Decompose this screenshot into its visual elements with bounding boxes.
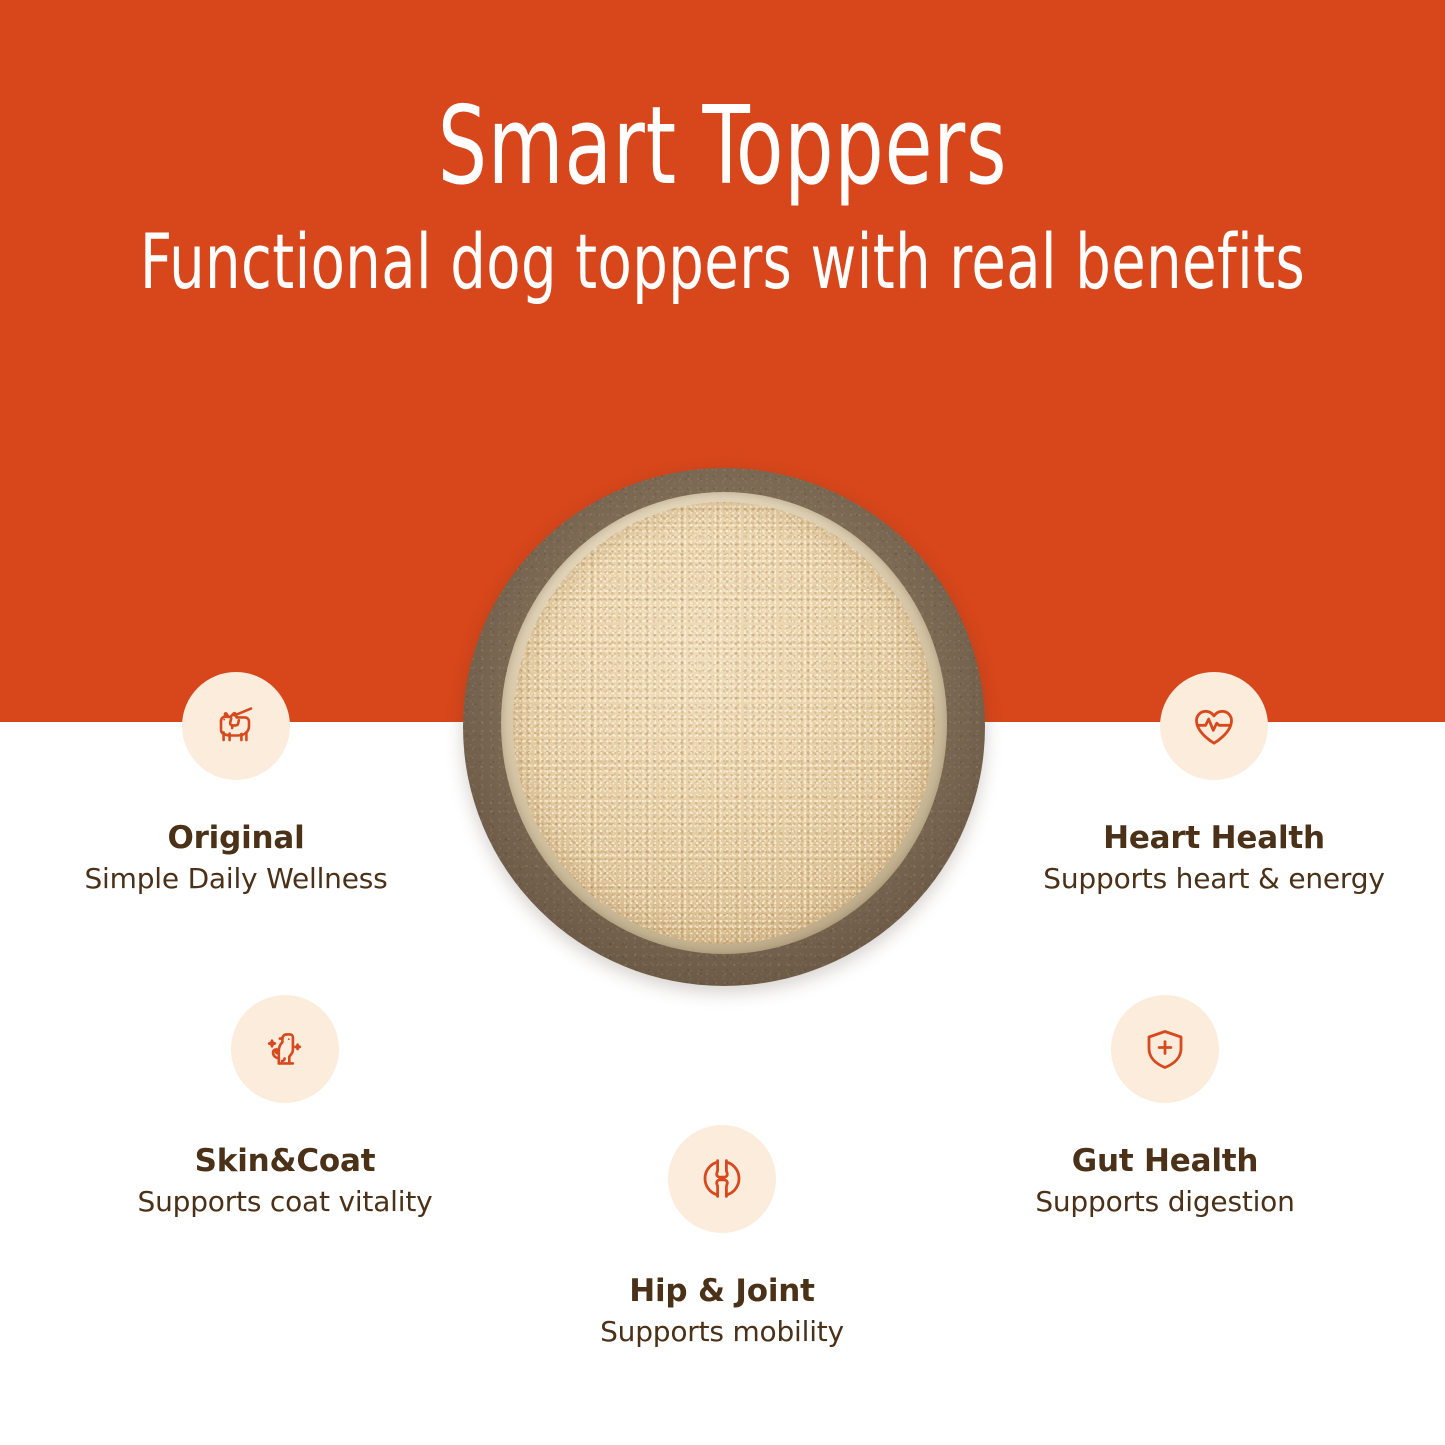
infographic-canvas: Smart Toppers Functional dog toppers wit…	[0, 0, 1445, 1445]
benefit-original[interactable]: Original Simple Daily Wellness	[26, 672, 446, 896]
benefit-title: Hip & Joint	[512, 1273, 932, 1310]
benefit-title: Gut Health	[955, 1143, 1375, 1180]
benefit-hip-and-joint[interactable]: Hip & Joint Supports mobility	[512, 1125, 932, 1349]
benefit-icon-badge	[231, 995, 339, 1103]
benefit-description: Supports heart & energy	[1004, 861, 1424, 896]
heart-pulse-icon	[1186, 698, 1242, 754]
benefit-icon-badge	[182, 672, 290, 780]
product-bowl-image	[463, 468, 985, 986]
page-subtitle: Functional dog toppers with real benefit…	[130, 222, 1315, 302]
benefit-gut-health[interactable]: Gut Health Supports digestion	[955, 995, 1375, 1219]
benefit-description: Supports coat vitality	[75, 1184, 495, 1219]
benefit-description: Supports mobility	[512, 1314, 932, 1349]
bone-joint-circle-icon	[695, 1152, 749, 1206]
benefit-title: Skin&Coat	[75, 1143, 495, 1180]
benefit-skin-and-coat[interactable]: Skin&Coat Supports coat vitality	[75, 995, 495, 1219]
benefit-title: Heart Health	[1004, 820, 1424, 857]
page-title: Smart Toppers	[145, 92, 1301, 202]
shield-plus-icon	[1138, 1022, 1192, 1076]
benefit-title: Original	[26, 820, 446, 857]
topper-powder	[513, 502, 935, 944]
benefit-description: Supports digestion	[955, 1184, 1375, 1219]
sitting-dog-sparkle-icon	[256, 1020, 314, 1078]
benefit-heart-health[interactable]: Heart Health Supports heart & energy	[1004, 672, 1424, 896]
benefit-icon-badge	[1111, 995, 1219, 1103]
dog-on-leash-icon	[207, 697, 265, 755]
benefit-icon-badge	[668, 1125, 776, 1233]
benefit-icon-badge	[1160, 672, 1268, 780]
benefit-description: Simple Daily Wellness	[26, 861, 446, 896]
